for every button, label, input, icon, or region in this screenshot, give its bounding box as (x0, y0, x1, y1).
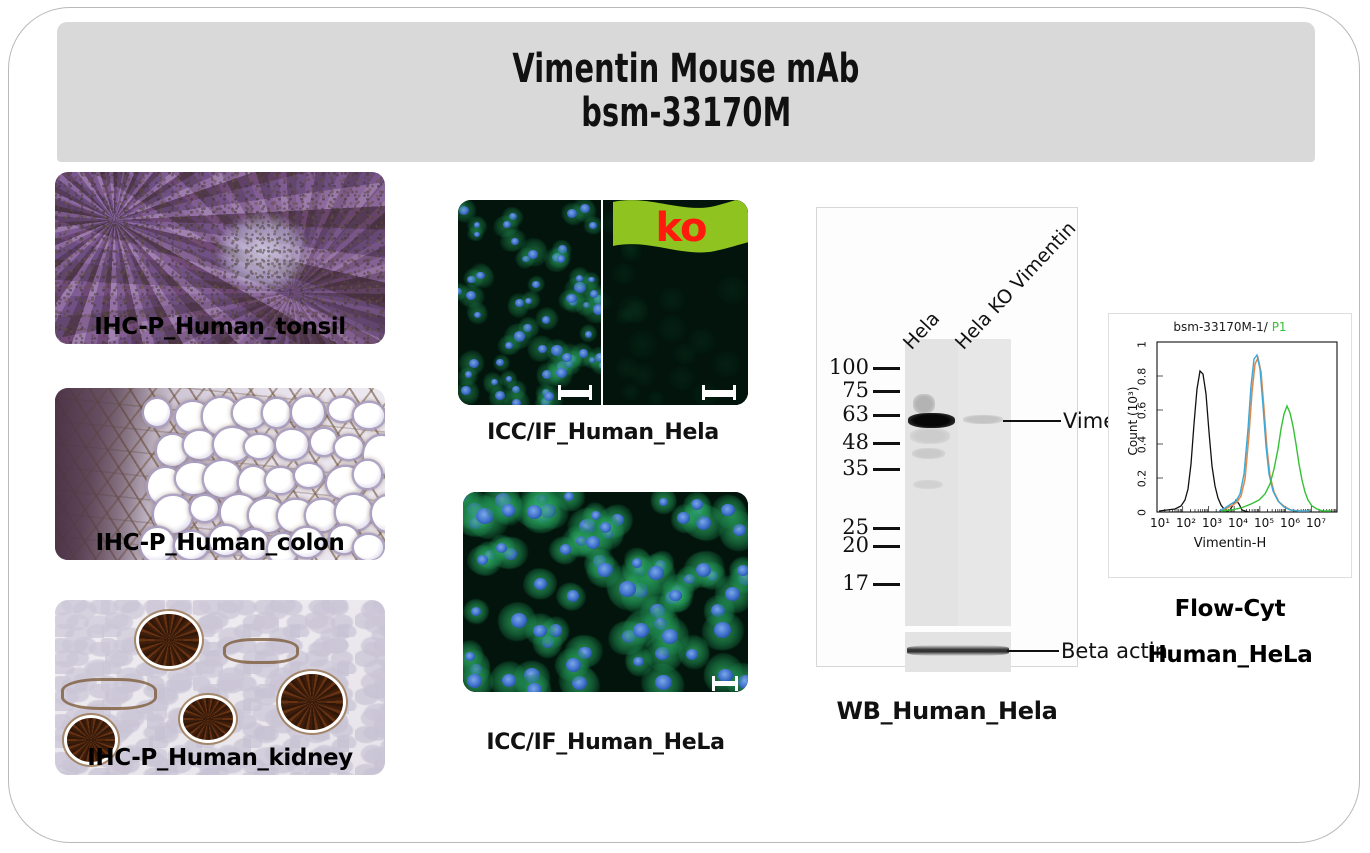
wb-anno-line-vimentin (1003, 420, 1061, 422)
cell-cytoplasm-faint (627, 330, 659, 358)
flow-xtick-1e1: 10¹ (1147, 516, 1173, 530)
cell-nucleus (465, 371, 472, 377)
panel-flow-cytometry: bsm-33170M-1/ P1 Count (10³) 0 0.2 0.4 0… (1108, 313, 1352, 578)
cell-nucleus (669, 590, 681, 601)
cell-nucleus (586, 536, 600, 549)
panel-ihc-tonsil: IHC-P_Human_tonsil (55, 172, 385, 344)
panel-icc-hela (463, 492, 748, 692)
wb-mw-tick (873, 468, 900, 471)
cell-nucleus (633, 657, 644, 667)
wb-band-smear (910, 428, 950, 444)
colon-crypt (335, 436, 363, 459)
kidney-vessel (61, 678, 157, 710)
cell-nucleus (532, 281, 539, 288)
colon-crypt (233, 398, 266, 428)
flow-ytick-06: 0.6 (1136, 400, 1149, 422)
flow-ytick-08: 0.8 (1136, 366, 1149, 388)
wb-band-vimentin (908, 413, 955, 428)
scale-bar (702, 390, 736, 397)
cell-nucleus (579, 349, 589, 358)
cell-nucleus (477, 555, 488, 565)
wb-mw-label-20: 20 (821, 533, 869, 557)
wb-band-nonspecific (913, 480, 943, 489)
cell-nucleus (588, 277, 594, 283)
figure-header: Vimentin Mouse mAb bsm-33170M (57, 22, 1315, 162)
wb-mw-tick (873, 414, 900, 417)
colon-crypt (292, 397, 324, 428)
cell-cytoplasm-faint (617, 295, 648, 322)
cell-cytoplasm-faint (716, 276, 747, 304)
cell-nucleus (512, 399, 521, 405)
colon-crypt (263, 399, 290, 427)
cell-nucleus (467, 674, 482, 688)
wb-mw-label-35: 35 (821, 456, 869, 480)
cell-nucleus (560, 544, 571, 554)
cell-nucleus (474, 232, 480, 238)
glomerulus (281, 674, 343, 730)
cell-nucleus (496, 543, 507, 553)
ihc-colon-caption: IHC-P_Human_colon (55, 530, 385, 556)
cell-cytoplasm-faint (657, 315, 687, 342)
cell-nucleus (502, 504, 516, 517)
glomerulus (139, 614, 199, 666)
wb-mw-label-63: 63 (821, 402, 869, 426)
cell-nucleus (567, 209, 577, 218)
ihc-tonsil-caption: IHC-P_Human_tonsil (55, 314, 385, 340)
cell-nucleus (491, 379, 498, 385)
flow-xtick-1e2: 10² (1173, 516, 1199, 530)
glomerulus (183, 698, 233, 740)
ko-badge-label: ko (613, 205, 748, 251)
cell-nucleus (511, 613, 527, 628)
wb-band-vimentin-ko (963, 415, 1003, 424)
cell-nucleus (461, 386, 470, 395)
wb-mw-tick (873, 545, 900, 548)
flow-caption-line2: Human_HeLa (1098, 642, 1362, 668)
cell-cytoplasm-faint (658, 287, 686, 312)
colon-crypt (245, 435, 273, 458)
cell-nucleus (465, 652, 475, 661)
cell-nucleus (528, 250, 538, 259)
colon-crypt (191, 496, 218, 521)
cell-nucleus (585, 331, 592, 337)
colon-crypt (306, 500, 338, 532)
cell-nucleus (566, 658, 581, 672)
colon-crypt (329, 398, 356, 420)
wb-anno-line-beta-actin (1007, 650, 1059, 652)
cell-nucleus (534, 578, 547, 590)
scale-bar (558, 390, 592, 397)
colon-crypt (354, 403, 384, 427)
panel-ihc-kidney: IHC-P_Human_kidney (55, 600, 385, 775)
cell-nucleus (511, 238, 519, 245)
wb-band-beta-actin (907, 645, 1009, 656)
figure-canvas: Vimentin Mouse mAb bsm-33170M IHC-P_Huma… (0, 0, 1370, 853)
catalog-number: bsm-33170M (581, 91, 791, 136)
colon-crypt (184, 431, 214, 459)
flow-xlabel: Vimentin-H (1109, 536, 1351, 551)
wb-caption: WB_Human_Hela (816, 697, 1078, 725)
flow-ytick-04: 0.4 (1136, 434, 1149, 456)
flow-ytick-02: 0.2 (1136, 468, 1149, 490)
wb-band-smear (913, 394, 935, 414)
cell-nucleus (590, 290, 599, 298)
icc-hela-ko-caption: ICC/IF_Human_Hela (458, 420, 748, 445)
wb-mw-tick (873, 442, 900, 445)
cell-cytoplasm-faint (673, 343, 697, 365)
flow-caption-line1: Flow-Cyt (1108, 596, 1352, 622)
product-name: Vimentin Mouse mAb (512, 48, 859, 91)
cell-nucleus (737, 565, 748, 576)
cell-nucleus (714, 622, 731, 638)
cell-nucleus (505, 342, 513, 349)
colon-crypt (144, 399, 170, 426)
flow-xtick-1e5: 10⁵ (1251, 516, 1277, 530)
wb-mw-label-75: 75 (821, 378, 869, 402)
cell-nucleus (496, 359, 503, 366)
colon-crypt (204, 461, 241, 497)
cell-cytoplasm-faint (647, 390, 666, 405)
wb-mw-tick (873, 583, 900, 586)
fluorescence-field (463, 492, 748, 692)
flow-xtick-1e3: 10³ (1199, 516, 1225, 530)
wb-lane-hela-ko (958, 339, 1011, 626)
cell-cytoplasm-faint (621, 383, 641, 401)
colon-crypt (239, 467, 268, 498)
cell-nucleus (589, 222, 597, 229)
colon-crypt (354, 461, 381, 489)
cell-nucleus (502, 674, 517, 687)
colon-crypt (276, 430, 307, 458)
scale-bar (712, 681, 738, 686)
cell-cytoplasm-faint (668, 366, 696, 391)
cell-nucleus (677, 512, 690, 524)
panel-western-blot: Hela Hela KO Vimentin 100 75 63 48 35 25… (816, 207, 1078, 667)
panel-icc-hela-ko: ko (458, 200, 748, 405)
wb-mw-tick (873, 527, 900, 530)
cell-cytoplasm-faint (712, 351, 741, 377)
kidney-vessel (223, 638, 299, 664)
wb-mw-tick (873, 390, 900, 393)
cell-nucleus (725, 587, 740, 601)
cell-nucleus (632, 558, 642, 568)
wb-mw-label-100: 100 (821, 355, 869, 379)
flow-ytick-1: 1 (1136, 334, 1149, 356)
flow-xtick-1e4: 10⁴ (1225, 516, 1251, 530)
wb-mw-label-17: 17 (821, 571, 869, 595)
cell-nucleus (466, 291, 476, 300)
wb-mw-label-48: 48 (821, 430, 869, 454)
colon-crypt (157, 435, 188, 466)
colon-crypt (266, 468, 296, 493)
cell-cytoplasm-faint (615, 357, 639, 379)
cell-nucleus (696, 563, 711, 577)
flow-xtick-1e6: 10⁶ (1277, 516, 1303, 530)
flow-xtick-1e7: 10⁷ (1303, 516, 1329, 530)
panel-ihc-colon: IHC-P_Human_colon (55, 388, 385, 560)
cell-nucleus (662, 629, 678, 644)
wb-band-nonspecific (912, 448, 945, 459)
wb-mw-tick (873, 367, 900, 370)
icc-wildtype-half (458, 200, 601, 405)
icc-hela-caption: ICC/IF_Human_HeLa (463, 730, 748, 755)
colon-crypt (336, 495, 372, 531)
ko-badge: ko (613, 200, 748, 262)
ihc-kidney-caption: IHC-P_Human_kidney (55, 745, 385, 771)
wb-lane-label-1: Hela KO Vimentin (951, 217, 1080, 354)
cell-nucleus (527, 683, 542, 692)
